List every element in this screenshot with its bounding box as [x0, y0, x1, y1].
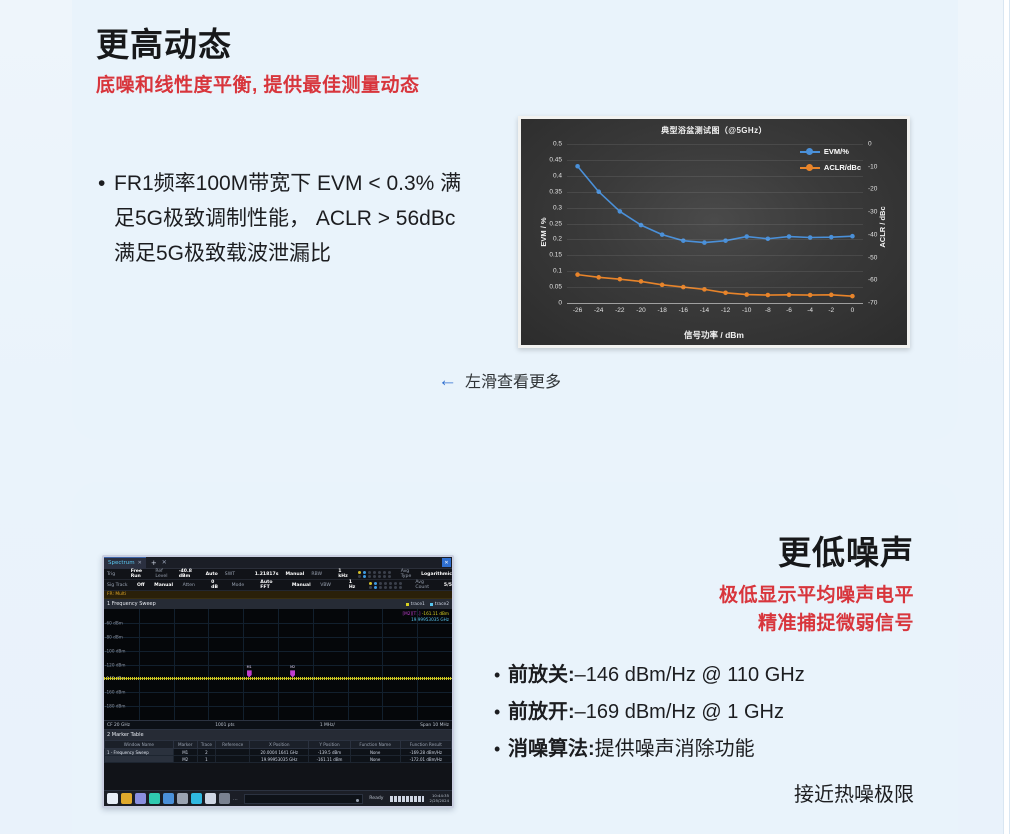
table-cell: -172.01 dBm/Hz [400, 756, 451, 763]
more-icon[interactable] [219, 793, 230, 804]
chart-data-point [808, 293, 813, 298]
graticule-vline [243, 609, 244, 720]
window-close-button[interactable]: ✕ [442, 558, 451, 567]
chart-x-tick: -14 [700, 307, 709, 314]
save-icon[interactable] [135, 793, 146, 804]
table-row[interactable]: 1 - Frequency SweepM1220.0004 1641 GHz-1… [105, 749, 452, 756]
chart-y-tick: 0.45 [549, 156, 562, 163]
sa-led-indicator [389, 586, 392, 589]
card2-spec-list: •前放关: –146 dBm/Hz @ 110 GHz•前放开: –169 dB… [494, 660, 914, 771]
chart-x-tick: -12 [721, 307, 730, 314]
sa-taskbar-field[interactable] [244, 794, 363, 804]
table-cell [216, 749, 250, 756]
sa-led-indicator [383, 575, 386, 578]
chart-y-tick: 0.35 [549, 188, 562, 195]
chart-gridline [567, 239, 863, 240]
sa-status-strip: FR: Multi [104, 591, 452, 599]
sa-led-indicator [383, 571, 386, 574]
spec-label: 前放关: [508, 660, 575, 690]
sa-trace-tag[interactable]: trace2 [430, 602, 449, 607]
card2-extra-line: 接近热噪极限 [794, 778, 914, 807]
table-column-header[interactable]: Y Position [309, 741, 350, 749]
sa-axis-left: CF 20 GHz [107, 723, 130, 728]
sa-marker-table: Window NameMarkerTraceReferenceX Positio… [104, 740, 452, 763]
chart-y2-tick: -50 [868, 254, 877, 261]
sa-noise-baseline [104, 678, 452, 679]
chart-gridline [567, 160, 863, 161]
sa-setting-cell[interactable]: Manual [285, 572, 304, 577]
chart-data-point [787, 234, 792, 239]
chart-gridline [567, 255, 863, 256]
sa-setting-cell[interactable]: Manual [292, 583, 311, 588]
card2-list-item: •前放开: –169 dBm/Hz @ 1 GHz [494, 697, 914, 727]
bullet-marker-icon: • [494, 734, 508, 764]
sa-trace-label: trace2 [435, 602, 449, 607]
sa-taskbar: ... Ready 10:44:35 2/25/2024 [104, 790, 452, 806]
sa-marker-label: M1 [247, 665, 252, 669]
spectrum-analyzer-screenshot: Spectrum ✕ + ✕ ✕ TrigFree RunRef Level-4… [102, 555, 454, 808]
sa-marker-leds[interactable] [369, 582, 402, 589]
sa-led-indicator [389, 582, 392, 585]
table-cell: 19.99953035 GHz [250, 756, 309, 763]
chart-x-tick: -10 [742, 307, 751, 314]
graticule-vline [174, 609, 175, 720]
chart-y-tick: 0.25 [549, 220, 562, 227]
arrow-left-icon: ← [438, 371, 457, 390]
chart-container: 典型浴盆测试图（@5GHz） EVM / % ACLR / dBc 信号功率 /… [518, 116, 910, 348]
sa-setting-value: 0 dB [211, 580, 222, 590]
chart-y2-tick: -40 [868, 231, 877, 238]
sa-setting-key: Atten [183, 583, 209, 588]
sa-setting-value: Free Run [131, 569, 149, 579]
sa-led-indicator [394, 586, 397, 589]
chart-x-tick: -8 [765, 307, 771, 314]
sa-led-indicator [379, 582, 382, 585]
chart-x-tick: -20 [636, 307, 645, 314]
trace-color-icon [406, 603, 409, 606]
close-icon[interactable]: ✕ [162, 559, 167, 566]
chart-y-tick: 0.1 [553, 268, 562, 275]
sa-marker-leds[interactable] [358, 571, 391, 578]
clock-date: 2/25/2024 [430, 799, 449, 804]
sa-led-indicator [384, 586, 387, 589]
chart-gridline [567, 192, 863, 193]
chart-data-point [766, 293, 771, 298]
screenshot-icon[interactable] [205, 793, 216, 804]
sa-led-indicator [369, 582, 372, 585]
sa-settings-row-1: TrigFree RunRef Level-40.8 dBmAutoSWT1.2… [104, 569, 452, 580]
chart-y-tick: 0 [558, 300, 562, 307]
sa-led-indicator [363, 575, 366, 578]
table-column-header[interactable]: X Position [250, 741, 309, 749]
sa-trace-label: trace1 [411, 602, 425, 607]
graticule-vline [139, 609, 140, 720]
table-cell: 1 [197, 756, 216, 763]
sa-graph-y-label: -60 dBm [105, 620, 123, 625]
table-column-header[interactable]: Window Name [105, 741, 174, 749]
sa-setting-value: Off [137, 583, 145, 588]
chart-data-point [850, 294, 855, 299]
chart-y2-tick: -30 [868, 209, 877, 216]
sa-clock: 10:44:35 2/25/2024 [430, 794, 449, 803]
status-ready-label: Ready [369, 796, 383, 801]
chart-gridline [567, 144, 863, 145]
sa-setting-value: 1 kHz [338, 569, 351, 579]
swipe-hint-label: 左滑查看更多 [465, 368, 561, 392]
sa-tab-bar: Spectrum ✕ + ✕ ✕ [104, 557, 452, 569]
sa-led-indicator [388, 575, 391, 578]
settings-icon[interactable] [107, 793, 118, 804]
chart-x-tick: -22 [615, 307, 624, 314]
card2-list-item: •前放关: –146 dBm/Hz @ 110 GHz [494, 660, 914, 690]
sa-setting-cell[interactable]: ModeAuto FFT [232, 580, 283, 590]
sa-setting-key: Sig Track [107, 583, 134, 588]
more-icon[interactable]: ... [233, 796, 238, 802]
chart-x-axis-label: 信号功率 / dBm [521, 329, 907, 341]
page-right-divider [1003, 0, 1004, 834]
chart-y2-tick: -70 [868, 300, 877, 307]
spec-value: –169 dBm/Hz @ 1 GHz [575, 697, 784, 727]
bullet-marker-icon: • [494, 697, 508, 727]
sa-readout-value: -161.11 dBm [422, 611, 449, 616]
chart-x-tick: -16 [679, 307, 688, 314]
sa-setting-value: Manual [285, 572, 304, 577]
sa-graph-y-label: -100 dBm [105, 648, 125, 653]
chart-x-tick: -2 [828, 307, 834, 314]
sa-setting-cell[interactable]: Auto [206, 572, 218, 577]
bathtub-test-chart: 典型浴盆测试图（@5GHz） EVM / % ACLR / dBc 信号功率 /… [521, 119, 907, 345]
sa-trace-tag[interactable]: trace1 [406, 602, 425, 607]
sa-led-indicator [388, 571, 391, 574]
card1-title: 更高动态 [96, 18, 232, 66]
chart-x-tick: -26 [573, 307, 582, 314]
swipe-hint[interactable]: ← 左滑查看更多 [438, 368, 561, 392]
sa-led-indicator [358, 571, 361, 574]
chart-y2-axis-label: ACLR / dBc [878, 207, 887, 248]
sa-avg-value: Logarithmic [421, 572, 452, 577]
sa-graph-y-label: -160 dBm [105, 690, 125, 695]
table-body: 1 - Frequency SweepM1220.0004 1641 GHz-1… [105, 749, 452, 763]
chart-data-point [702, 240, 707, 245]
spec-value: –146 dBm/Hz @ 110 GHz [575, 660, 805, 690]
table-header-row: Window NameMarkerTraceReferenceX Positio… [105, 741, 452, 749]
table-cell: -139.5 dBm [309, 749, 350, 756]
table-column-header[interactable]: Function Result [400, 741, 451, 749]
sa-tab-label: Spectrum [108, 560, 135, 566]
add-tab-icon[interactable]: + [151, 559, 157, 567]
sa-trace-tags: trace1trace2 [406, 602, 449, 607]
sa-setting-key: RBW [311, 572, 335, 577]
chart-data-point [575, 164, 580, 169]
sa-setting-value: Manual [292, 583, 311, 588]
table-cell: 1 - Frequency Sweep [105, 749, 174, 756]
chart-gridline [567, 271, 863, 272]
sa-axis-right: Span 10 MHz [420, 723, 449, 728]
sa-setting-key: Ref Level [155, 569, 175, 579]
sa-window-header: 1 Frequency Sweep trace1trace2 [104, 599, 452, 609]
spectrum-analyzer-window: Spectrum ✕ + ✕ ✕ TrigFree RunRef Level-4… [104, 557, 452, 806]
sa-settings-row-2: Sig TrackOffManualAtten0 dBModeAuto FFTM… [104, 580, 452, 591]
chart-data-point [660, 232, 665, 237]
spec-value: 提供噪声消除功能 [595, 734, 755, 764]
sa-setting-key: Mode [232, 583, 258, 588]
card2-title: 更低噪声 [778, 526, 914, 574]
card2-subtitle-line1: 极低显示平均噪声电平 [719, 580, 914, 607]
chart-y-tick: 0.5 [553, 141, 562, 148]
sa-avg-key: Avg Type [401, 569, 415, 579]
sa-led-indicator [374, 586, 377, 589]
graticule-vline [278, 609, 279, 720]
sa-marker-table-title: 2 Marker Table [104, 730, 452, 740]
sa-axis-unit: 1 MHz/ [320, 723, 335, 728]
sa-led-indicator [384, 582, 387, 585]
table-column-header[interactable]: Reference [216, 741, 250, 749]
sa-graph-y-label: -80 dBm [105, 634, 123, 639]
chart-data-point [787, 293, 792, 298]
chart-x-tick: 0 [851, 307, 855, 314]
spec-label: 消噪算法: [508, 734, 595, 764]
table-cell [216, 756, 250, 763]
sa-led-indicator [368, 571, 371, 574]
sa-setting-cell[interactable]: Ref Level-40.8 dBm [155, 569, 198, 579]
sa-setting-cell[interactable]: RBW1 kHz [311, 569, 351, 579]
chart-y-tick: 0.2 [553, 236, 562, 243]
chart-data-point [618, 277, 623, 282]
sa-led-indicator [363, 571, 366, 574]
sa-setting-cell[interactable]: TrigFree Run [107, 569, 148, 579]
sa-setting-value: Auto [206, 572, 218, 577]
bullet-marker-icon: • [98, 166, 105, 201]
sa-led-indicator [379, 586, 382, 589]
trace-color-icon [430, 603, 433, 606]
table-column-header[interactable]: Function Name [350, 741, 400, 749]
chart-plot-area: 00.050.10.150.20.250.30.350.40.450.50-10… [567, 144, 863, 303]
sa-led-indicator [373, 575, 376, 578]
chart-y-axis-label: EVM / % [539, 217, 548, 246]
spec-label: 前放开: [508, 697, 575, 727]
sa-graph-y-label: -180 dBm [105, 704, 125, 709]
sa-led-indicator [394, 582, 397, 585]
chart-y-tick: 0.05 [549, 284, 562, 291]
table-column-header[interactable]: Marker [173, 741, 197, 749]
card2-subtitle-line2: 精准捕捉微弱信号 [758, 608, 914, 635]
chart-data-point [639, 279, 644, 284]
sa-setting-value: -40.8 dBm [179, 569, 199, 579]
close-icon[interactable]: ✕ [138, 560, 142, 566]
chart-y2-tick: -60 [868, 277, 877, 284]
card1-subtitle: 底噪和线性度平衡, 提供最佳测量动态 [96, 70, 420, 97]
table-cell: None [350, 749, 400, 756]
sa-led-indicator [369, 586, 372, 589]
table-cell: M1 [173, 749, 197, 756]
graticule-vline [313, 609, 314, 720]
chart-data-point [850, 234, 855, 239]
sa-avg-key: Avg Count [415, 580, 437, 590]
chart-gridline [567, 208, 863, 209]
sa-window-title: 1 Frequency Sweep [107, 601, 156, 607]
graticule-vline [208, 609, 209, 720]
sa-graticule[interactable]: [M2][T1] -161.11 dBm 19.99953035 GHz -60… [104, 609, 452, 721]
card1-bullet-text: FR1频率100M带宽下 EVM < 0.3% 满足5G极致调制性能， ACLR… [96, 166, 466, 271]
chart-y2-tick: -10 [868, 163, 877, 170]
card1-bullet-item: • FR1频率100M带宽下 EVM < 0.3% 满足5G极致调制性能， AC… [96, 166, 466, 271]
chart-data-point [618, 209, 623, 214]
sa-led-indicator [373, 571, 376, 574]
sa-graph-y-label: -120 dBm [105, 662, 125, 667]
table-cell: M2 [173, 756, 197, 763]
sa-axis-bar: CF 20 GHz 1001 pts 1 MHz/ Span 10 MHz [104, 721, 452, 730]
table-cell: -161.11 dBm [309, 756, 350, 763]
chart-y2-tick: 0 [868, 141, 872, 148]
sa-led-indicator [358, 575, 361, 578]
chart-x-tick: -6 [786, 307, 792, 314]
edit-icon[interactable] [177, 793, 188, 804]
table-cell: 2 [197, 749, 216, 756]
sa-marker-m1[interactable] [247, 670, 252, 677]
chart-x-tick: -4 [807, 307, 813, 314]
chart-gridline [567, 176, 863, 177]
sa-setting-cell[interactable]: Sig TrackOff [107, 583, 145, 588]
sa-axis-center: 1001 pts [215, 723, 234, 728]
sa-led-indicator [378, 575, 381, 578]
table-cell: None [350, 756, 400, 763]
chart-data-point [596, 275, 601, 280]
sa-led-indicator [374, 582, 377, 585]
progress-indicator [390, 796, 424, 802]
chart-y2-tick: -20 [868, 186, 877, 193]
chart-title: 典型浴盆测试图（@5GHz） [521, 125, 907, 136]
chart-gridline [567, 303, 863, 304]
gear-icon[interactable] [191, 793, 202, 804]
sa-led-indicator [399, 586, 402, 589]
sa-setting-key: SWT [225, 572, 252, 577]
sa-led-indicator [378, 571, 381, 574]
chart-y-tick: 0.3 [553, 204, 562, 211]
sa-taskbar-icons [107, 793, 230, 804]
table-cell [105, 756, 174, 763]
sa-marker-label: M2 [290, 665, 295, 669]
sa-setting-value: Auto FFT [260, 580, 282, 590]
sa-setting-cell[interactable]: SWT1.21817s [225, 572, 279, 577]
chart-data-point [575, 272, 580, 277]
sa-tab-spectrum[interactable]: Spectrum ✕ [104, 557, 146, 569]
chart-gridline [567, 224, 863, 225]
graticule-vline [348, 609, 349, 720]
card2-list-item: •消噪算法: 提供噪声消除功能 [494, 734, 914, 764]
chart-x-tick: -18 [657, 307, 666, 314]
sa-led-indicator [368, 575, 371, 578]
page-root: 更高动态 底噪和线性度平衡, 提供最佳测量动态 • FR1频率100M带宽下 E… [0, 0, 1010, 834]
sa-setting-value: 1.21817s [255, 572, 279, 577]
table-cell: -169.28 dBm/Hz [400, 749, 451, 756]
graticule-vline [417, 609, 418, 720]
sa-led-indicator [399, 582, 402, 585]
sa-setting-value: 1 Hz [349, 580, 360, 590]
chart-y-tick: 0.15 [549, 252, 562, 259]
table-row[interactable]: M2119.99953035 GHz-161.11 dBmNone-172.01… [105, 756, 452, 763]
chart-gridline [567, 287, 863, 288]
sa-marker-readout: [M2][T1] -161.11 dBm 19.99953035 GHz [403, 611, 450, 623]
sa-setting-cell[interactable]: VBW1 Hz [320, 580, 359, 590]
chart-data-point [723, 290, 728, 295]
sa-setting-cell[interactable]: Manual [154, 583, 173, 588]
folder-icon[interactable] [121, 793, 132, 804]
camera-icon[interactable] [149, 793, 160, 804]
sa-setting-value: Manual [154, 583, 173, 588]
chart-data-point [744, 234, 749, 239]
chart-series-line [578, 166, 853, 242]
sa-avg-value: 5/5 [444, 583, 452, 588]
chart-y-tick: 0.4 [553, 172, 562, 179]
chart-data-point [829, 293, 834, 298]
sa-setting-cell[interactable]: Atten0 dB [183, 580, 223, 590]
chart-data-point [744, 292, 749, 297]
print-icon[interactable] [163, 793, 174, 804]
table-cell: 20.0004 1641 GHz [250, 749, 309, 756]
bullet-marker-icon: • [494, 660, 508, 690]
table-column-header[interactable]: Trace [197, 741, 216, 749]
chart-x-tick: -24 [594, 307, 603, 314]
sa-setting-key: Trig [107, 572, 128, 577]
graticule-vline [382, 609, 383, 720]
sa-marker-m2[interactable] [290, 670, 295, 677]
sa-setting-key: VBW [320, 583, 346, 588]
